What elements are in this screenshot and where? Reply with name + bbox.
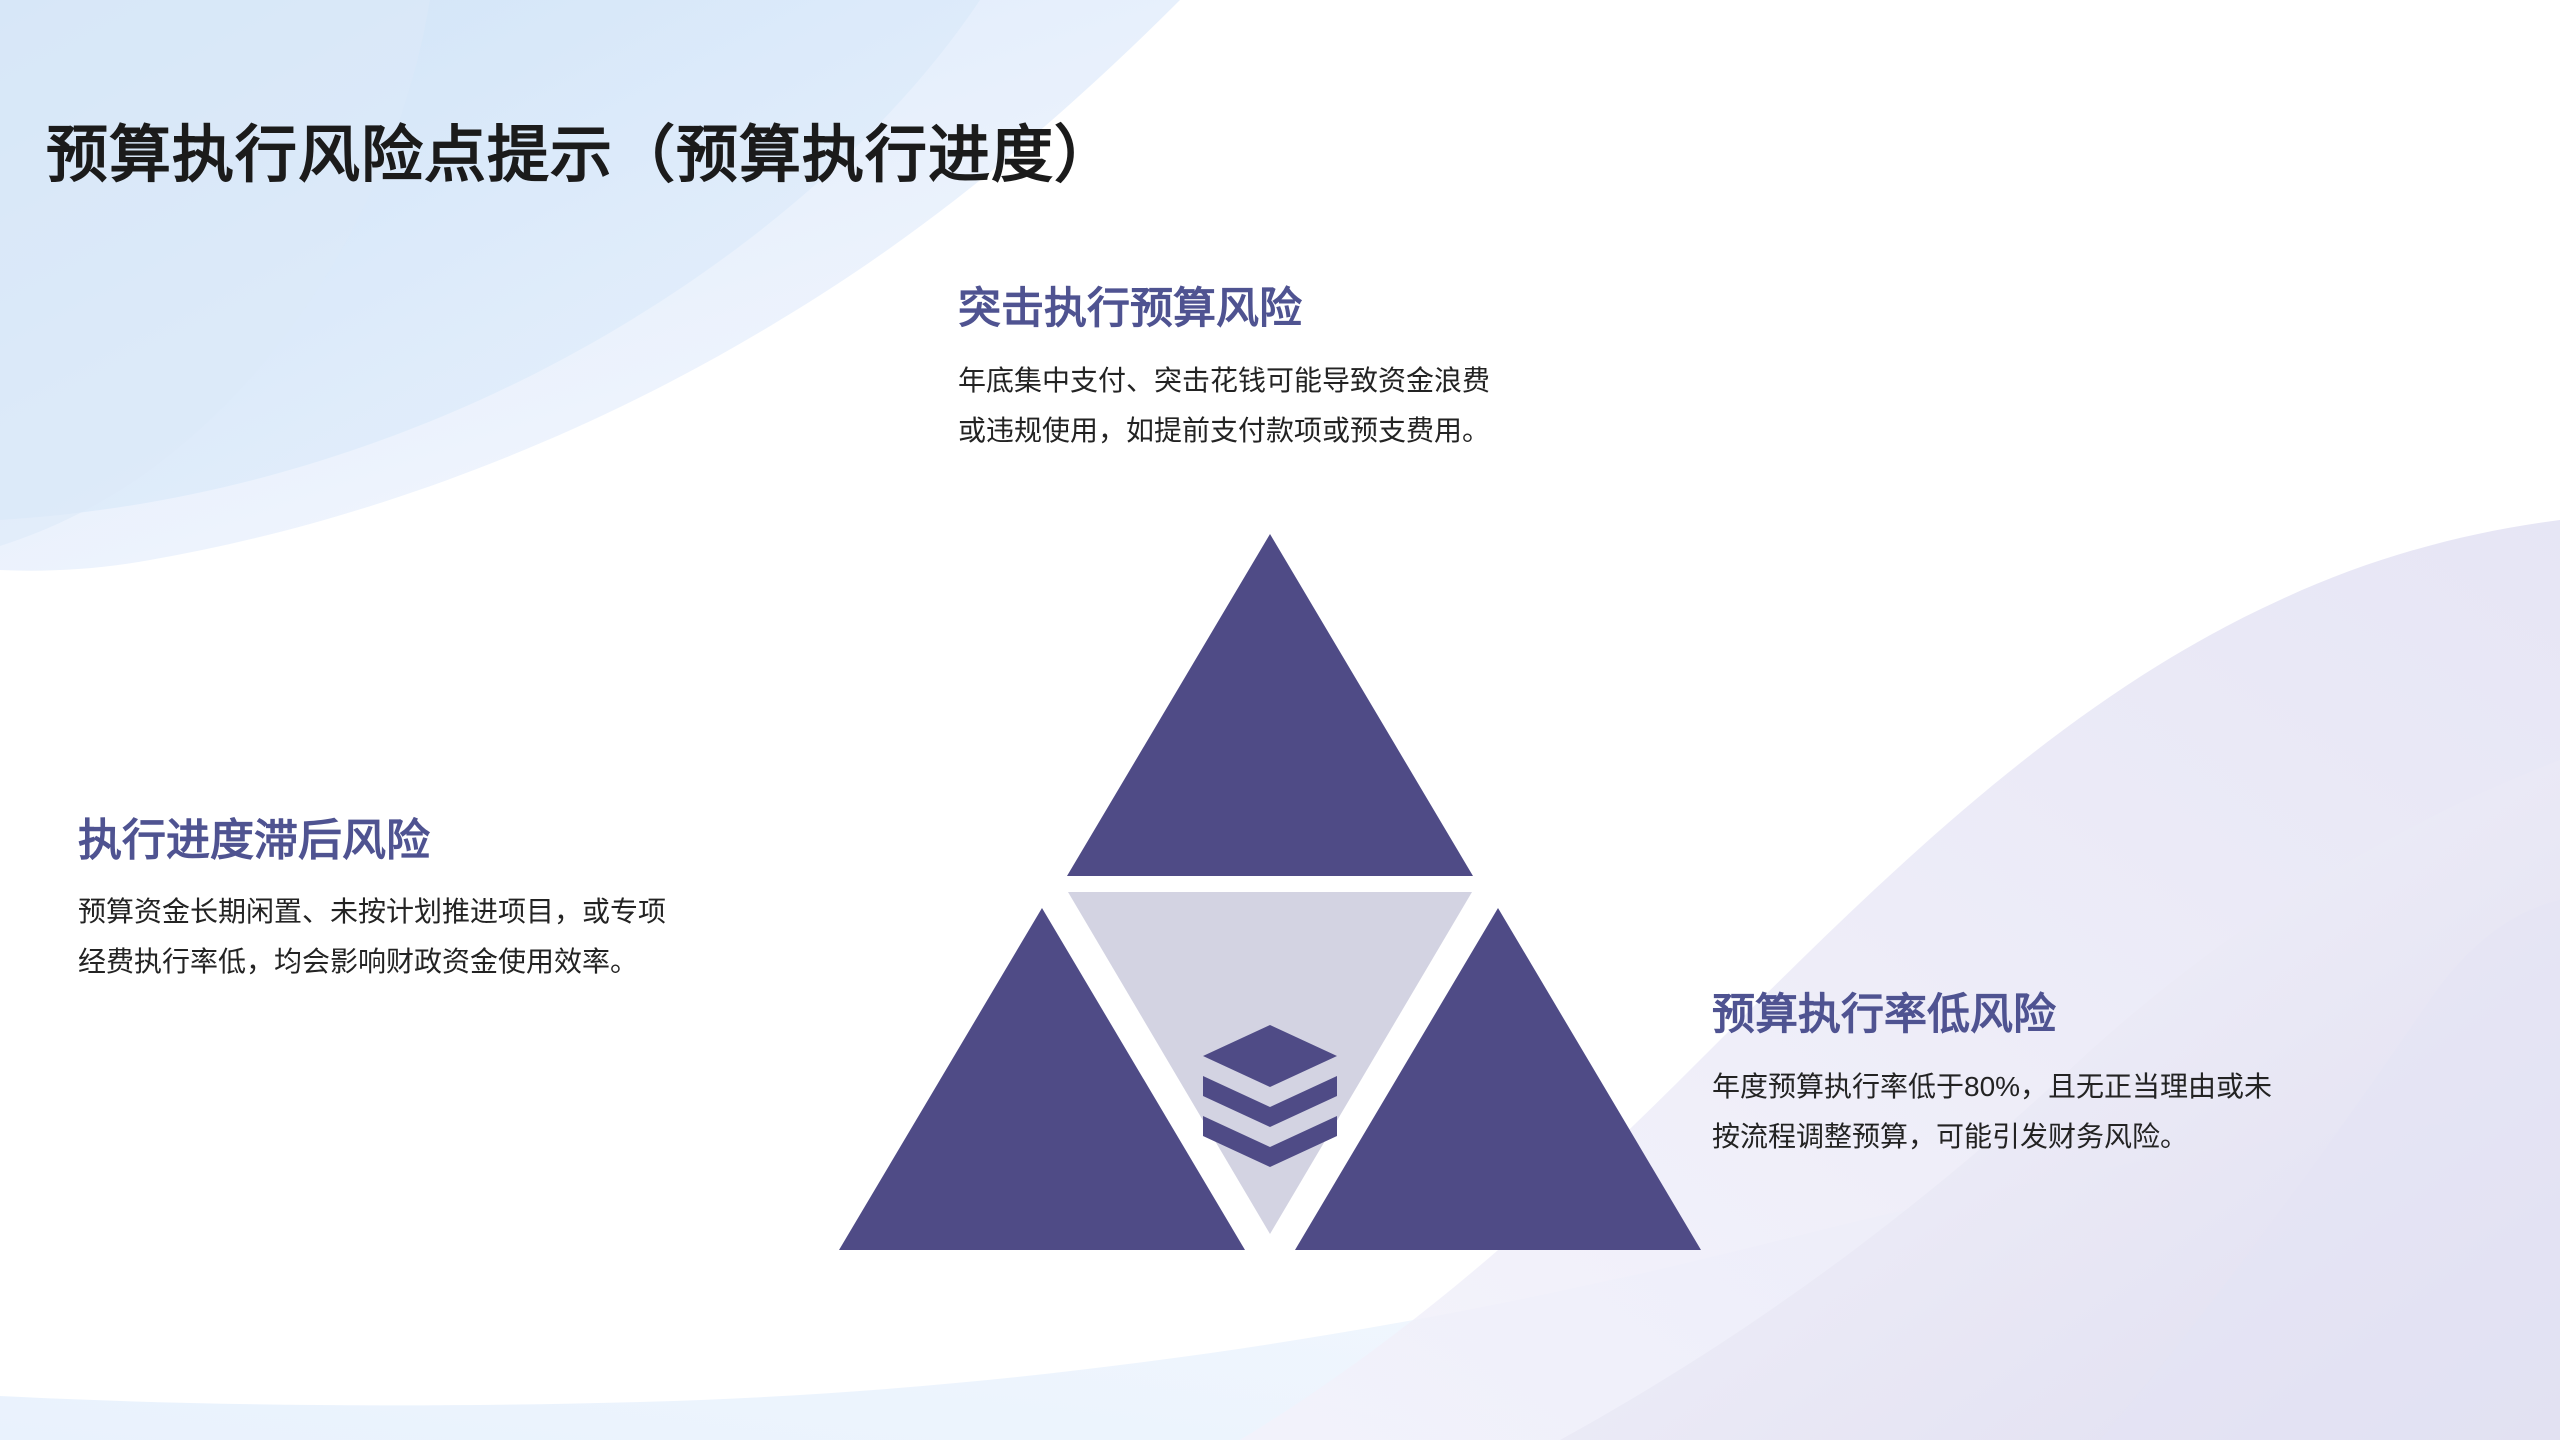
risk-body-right: 年度预算执行率低于80%，且无正当理由或未 按流程调整预算，可能引发财务风险。 [1712, 1062, 2272, 1162]
wave-right-edge-accent [2100, 900, 2560, 1440]
risk-body-left-line-1: 预算资金长期闲置、未按计划推进项目，或专项 [78, 887, 666, 937]
risk-body-right-line-2: 按流程调整预算，可能引发财务风险。 [1712, 1112, 2272, 1162]
risk-body-left-line-2: 经费执行率低，均会影响财政资金使用效率。 [78, 937, 666, 987]
risk-heading-top: 突击执行预算风险 [958, 282, 1490, 338]
risk-block-top: 突击执行预算风险 年底集中支付、突击花钱可能导致资金浪费 或违规使用，如提前支付… [958, 282, 1490, 456]
risk-body-top: 年底集中支付、突击花钱可能导致资金浪费 或违规使用，如提前支付款项或预支费用。 [958, 356, 1490, 456]
risk-block-right: 预算执行率低风险 年度预算执行率低于80%，且无正当理由或未 按流程调整预算，可… [1712, 988, 2272, 1162]
risk-body-right-line-1: 年度预算执行率低于80%，且无正当理由或未 [1712, 1062, 2272, 1112]
risk-body-left: 预算资金长期闲置、未按计划推进项目，或专项 经费执行率低，均会影响财政资金使用效… [78, 887, 666, 987]
risk-block-left: 执行进度滞后风险 预算资金长期闲置、未按计划推进项目，或专项 经费执行率低，均会… [78, 812, 666, 987]
risk-body-top-line-1: 年底集中支付、突击花钱可能导致资金浪费 [958, 356, 1490, 406]
slide-canvas: 预算执行风险点提示（预算执行进度） 突击执行预算风险 年底集中支付、突击花钱可能… [0, 0, 2560, 1440]
page-title: 预算执行风险点提示（预算执行进度） [46, 120, 1117, 191]
risk-body-top-line-2: 或违规使用，如提前支付款项或预支费用。 [958, 406, 1490, 456]
pyramid-diagram [820, 520, 1720, 1260]
risk-heading-left: 执行进度滞后风险 [78, 812, 666, 869]
risk-heading-right: 预算执行率低风险 [1712, 988, 2272, 1044]
triangle-top [1067, 534, 1473, 876]
wave-top-left-accent [0, 0, 430, 546]
wave-top-left-front [0, 0, 980, 520]
